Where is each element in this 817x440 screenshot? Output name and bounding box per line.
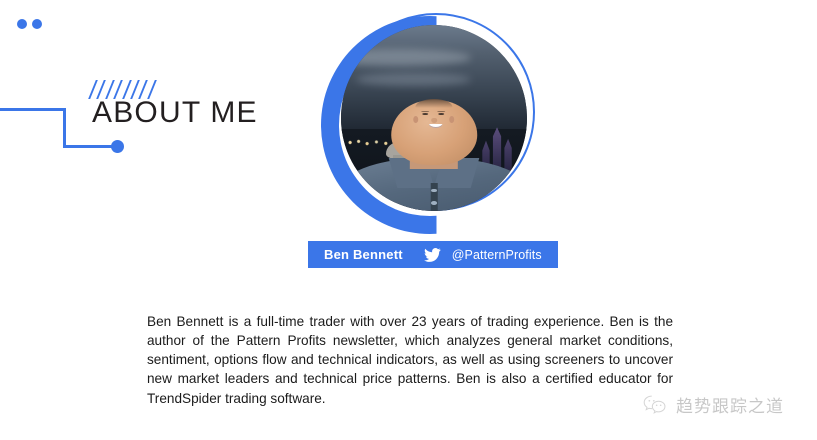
watermark-text: 趋势跟踪之道 bbox=[676, 392, 784, 417]
photo-person bbox=[341, 107, 527, 211]
photo-hairline bbox=[415, 99, 453, 108]
step-line-top-segment bbox=[0, 108, 66, 111]
twitter-handle: @PatternProfits bbox=[452, 248, 542, 262]
photo-brow-left bbox=[421, 111, 429, 112]
photo-ear-left bbox=[413, 116, 418, 123]
photo-nose bbox=[431, 118, 437, 123]
person-name: Ben Bennett bbox=[324, 247, 403, 262]
name-badge: Ben Bennett @PatternProfits bbox=[308, 241, 558, 268]
bio-paragraph: Ben Bennett is a full-time trader with o… bbox=[147, 312, 673, 408]
dot-icon bbox=[17, 19, 27, 29]
avatar bbox=[341, 25, 527, 211]
photo-eye-right bbox=[438, 113, 444, 115]
photo-eye-left bbox=[422, 113, 428, 115]
photo-placket bbox=[431, 183, 438, 211]
wechat-icon bbox=[643, 394, 667, 416]
step-line-bottom-segment bbox=[63, 145, 115, 148]
corner-dots-decoration bbox=[17, 19, 57, 31]
twitter-bird-icon bbox=[424, 248, 441, 262]
step-line-vertical-segment bbox=[63, 108, 66, 148]
about-me-slide: ABOUT ME bbox=[0, 0, 817, 440]
watermark: 趋势跟踪之道 bbox=[643, 392, 784, 417]
photo-head bbox=[391, 100, 477, 165]
page-title: ABOUT ME bbox=[92, 96, 258, 130]
dot-icon bbox=[32, 19, 42, 29]
step-line-end-dot-icon bbox=[111, 140, 124, 153]
photo-button bbox=[431, 201, 437, 205]
photo-ear-right bbox=[449, 116, 454, 123]
photo-button bbox=[431, 189, 437, 193]
photo-mouth bbox=[429, 124, 443, 128]
portrait-frame bbox=[321, 13, 539, 243]
photo-brow-right bbox=[437, 111, 445, 112]
